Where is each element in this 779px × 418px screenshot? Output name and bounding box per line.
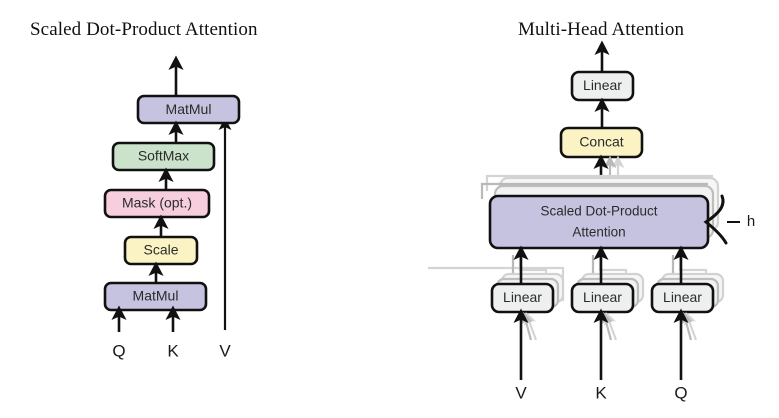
node-mha-linear-k-label: Linear xyxy=(583,289,622,305)
node-mha-linear-v-label: Linear xyxy=(503,289,542,305)
node-sdp-softmax-label: SoftMax xyxy=(138,148,189,164)
node-mha-concat-label: Concat xyxy=(579,134,623,150)
node-mha-sdpa-label-line2: Attention xyxy=(572,225,625,240)
node-sdp-scale[interactable]: Scale xyxy=(125,237,197,264)
attention-diagrams-svg: MatMul SoftMax Mask (opt.) Scale xyxy=(0,0,779,418)
node-sdp-scale-label: Scale xyxy=(143,242,178,258)
node-sdp-mask-label: Mask (opt.) xyxy=(122,195,192,211)
node-sdp-matmul-bottom-label: MatMul xyxy=(133,288,179,304)
figure-canvas: Scaled Dot-Product Attention Multi-Head … xyxy=(0,0,779,418)
panel-scaled-dot-product: MatMul SoftMax Mask (opt.) Scale xyxy=(105,63,239,360)
mha-input-label-q: Q xyxy=(674,383,687,402)
node-mha-linear-v[interactable]: Linear xyxy=(492,284,553,312)
mha-column-v: Linear V xyxy=(492,253,563,402)
node-mha-sdpa-label-line1: Scaled Dot-Product xyxy=(540,204,657,219)
sdp-input-label-k: K xyxy=(167,341,179,360)
node-mha-linear-output[interactable]: Linear xyxy=(572,72,633,100)
node-mha-linear-k[interactable]: Linear xyxy=(572,284,633,312)
node-sdp-matmul-top[interactable]: MatMul xyxy=(138,96,239,123)
sdp-input-label-v: V xyxy=(219,341,231,360)
node-sdp-softmax[interactable]: SoftMax xyxy=(113,143,214,170)
node-mha-linear-q-label: Linear xyxy=(663,289,702,305)
node-sdp-mask[interactable]: Mask (opt.) xyxy=(105,190,209,217)
mha-heads-label: h xyxy=(747,213,755,230)
node-mha-concat[interactable]: Concat xyxy=(561,128,642,157)
node-mha-linear-q[interactable]: Linear xyxy=(652,284,713,312)
panel-multi-head: Linear Concat Scaled Dot-Product xyxy=(428,48,755,402)
node-sdp-matmul-bottom[interactable]: MatMul xyxy=(105,283,206,310)
mha-column-k: Linear K xyxy=(572,253,643,402)
node-sdp-matmul-top-label: MatMul xyxy=(166,101,212,117)
mha-input-label-k: K xyxy=(595,383,607,402)
mha-input-label-v: V xyxy=(515,383,527,402)
sdp-input-label-q: Q xyxy=(112,341,125,360)
mha-column-q: Linear Q xyxy=(652,253,723,402)
node-mha-linear-output-label: Linear xyxy=(583,77,622,93)
node-mha-sdpa[interactable]: Scaled Dot-Product Attention xyxy=(490,196,708,248)
